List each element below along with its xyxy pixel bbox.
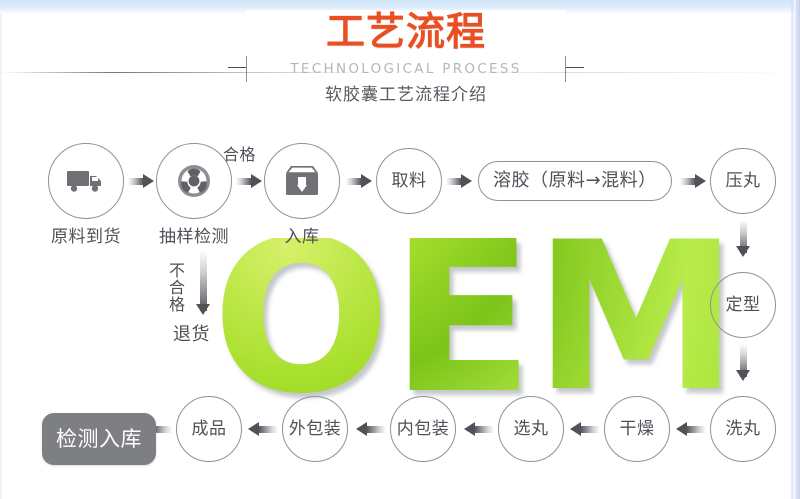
node-label-inner-packaging: 内包装 [397,421,450,438]
caption-warehouse-in: 入库 [249,222,355,247]
arrow-head [143,174,154,188]
node-label-finished-product: 成品 [192,421,227,438]
arrow-take-to-solgel [446,174,472,188]
node-warehouse-in[interactable] [264,143,340,219]
arrow-head [676,422,687,436]
arrow-shaft [687,426,706,433]
infographic-canvas: 工艺流程 TECHNOLOGICAL PROCESS 软胶囊工艺流程介绍 O E… [0,0,800,499]
arrow-unqualified-to-return [196,250,210,322]
node-label-select-pill: 选丸 [514,421,549,438]
oem-letter-o: O [212,238,391,398]
node-material-take[interactable]: 取料 [376,148,442,214]
arrow-head [736,370,750,388]
oem-watermark: O E M [212,238,692,408]
inspection-gear-icon [173,160,215,202]
arrow-shaft [475,426,494,433]
arrow-inner-to-outer-packaging [356,422,386,436]
right-edge-band-inner [791,0,794,499]
arrow-shaft [128,178,143,185]
page-subtitle: 软胶囊工艺流程介绍 [246,82,566,108]
node-wash-pill[interactable]: 洗丸 [710,396,776,462]
arrow-head [248,422,259,436]
arrow-shaft [200,250,207,311]
arrow-shaft [446,178,461,185]
node-label-drying: 干燥 [620,421,655,438]
node-finished-product[interactable]: 成品 [176,396,242,462]
node-press-pill[interactable]: 压丸 [710,148,776,214]
arrow-head [695,174,706,188]
node-return-goods: 退货 [173,320,210,346]
oem-letter-m: M [534,238,738,398]
left-edge-tint [0,14,2,499]
node-label-shaping: 定型 [726,297,761,314]
arrow-head [361,174,372,188]
arrow-drying-to-select [570,422,600,436]
arrow-outer-packaging-to-finished [248,422,278,436]
node-drying[interactable]: 干燥 [604,396,670,462]
arrow-warehouse-to-take [346,174,372,188]
arrow-shaft [236,178,251,185]
node-inner-packaging[interactable]: 内包装 [390,396,456,462]
caption-sampling-inspection: 抽样检测 [141,222,247,247]
node-sampling-inspection[interactable] [156,143,232,219]
arrow-solgel-to-press [680,174,706,188]
node-outer-packaging[interactable]: 外包装 [282,396,348,462]
arrow-head [736,246,750,264]
arrow-shaping-to-wash [736,344,750,388]
arrow-shaft [346,178,361,185]
arrow-shaft [581,426,600,433]
node-select-pill[interactable]: 选丸 [498,396,564,462]
node-label-wash-pill: 洗丸 [726,421,761,438]
node-label-outer-packaging: 外包装 [289,421,342,438]
arrow-shaft [680,178,695,185]
arrow-select-to-inner-packaging [464,422,494,436]
node-label-material-take: 取料 [392,173,427,190]
edge-label-qualified: 合格 [223,141,256,165]
arrow-head [251,174,262,188]
oem-letter-e: E [391,238,534,398]
page-subtitle-text: 软胶囊工艺流程介绍 [317,85,495,105]
header-tick-right [566,67,584,68]
arrow-head [356,422,367,436]
page-title-english: TECHNOLOGICAL PROCESS [246,60,566,78]
truck-icon [66,167,106,195]
node-label-press-pill: 压丸 [726,173,761,190]
node-raw-material-arrival[interactable] [48,143,124,219]
page-title: 工艺流程 [246,10,566,56]
node-inspect-warehouse[interactable]: 检测入库 [42,413,156,465]
edge-label-unqualified: 不合格 [163,262,187,313]
arrow-shaft [367,426,386,433]
node-shaping[interactable]: 定型 [710,272,776,338]
arrow-press-to-shaping [736,220,750,264]
arrow-head [464,422,475,436]
page-header: 工艺流程 TECHNOLOGICAL PROCESS 软胶囊工艺流程介绍 [246,18,566,114]
right-edge-band [794,0,800,499]
arrow-inspection-to-warehouse [236,174,262,188]
node-sol-gel[interactable]: 溶胶（原料→混料） [478,161,672,201]
arrow-head [570,422,581,436]
header-tick-left [228,67,246,68]
arrow-head [461,174,472,188]
arrow-shaft [259,426,278,433]
node-label-sol-gel: 溶胶（原料→混料） [493,172,657,190]
node-label-inspect-warehouse: 检测入库 [56,429,142,450]
arrow-arrival-to-inspection [128,174,154,188]
caption-raw-material-arrival: 原料到货 [33,222,139,247]
inbox-down-arrow-icon [283,164,321,198]
arrow-wash-to-drying [676,422,706,436]
